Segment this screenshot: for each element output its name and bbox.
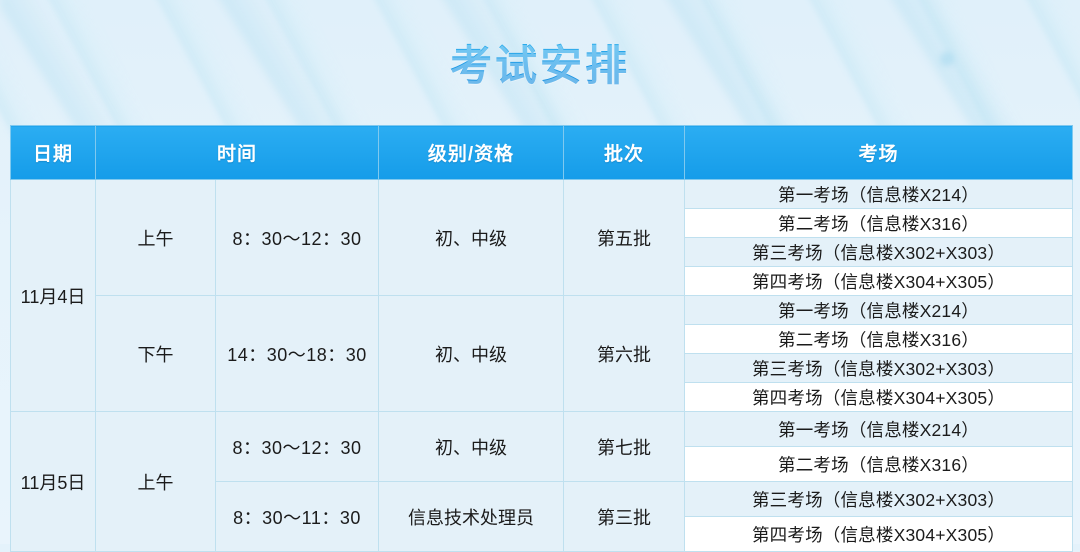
cell-time: 8：30～12：30 (216, 180, 379, 296)
title-banner: 考试安排 (0, 0, 1080, 125)
cell-date: 11月4日 (11, 180, 96, 412)
cell-ampm: 上午 (96, 412, 216, 552)
cell-room: 第四考场（信息楼X304+X305） (685, 383, 1073, 412)
cell-date: 11月5日 (11, 412, 96, 552)
table-row: 11月4日 上午 8：30～12：30 初、中级 第五批 第一考场（信息楼X21… (11, 180, 1073, 209)
cell-time: 8：30～12：30 (216, 412, 379, 482)
column-header-batch: 批次 (564, 126, 685, 180)
cell-time: 8：30～11：30 (216, 482, 379, 552)
cell-room: 第三考场（信息楼X302+X303） (685, 482, 1073, 517)
cell-room: 第三考场（信息楼X302+X303） (685, 354, 1073, 383)
cell-level: 信息技术处理员 (379, 482, 564, 552)
cell-batch: 第七批 (564, 412, 685, 482)
table-row: 11月5日 上午 8：30～12：30 初、中级 第七批 第一考场（信息楼X21… (11, 412, 1073, 447)
cell-level: 初、中级 (379, 180, 564, 296)
column-header-level: 级别/资格 (379, 126, 564, 180)
cell-room: 第四考场（信息楼X304+X305） (685, 267, 1073, 296)
cell-time: 14：30～18：30 (216, 296, 379, 412)
page-title: 考试安排 (450, 32, 630, 93)
cell-room: 第一考场（信息楼X214） (685, 412, 1073, 447)
cell-room: 第二考场（信息楼X316） (685, 447, 1073, 482)
cell-batch: 第三批 (564, 482, 685, 552)
table-row: 下午 14：30～18：30 初、中级 第六批 第一考场（信息楼X214） (11, 296, 1073, 325)
column-header-time: 时间 (96, 126, 379, 180)
cell-room: 第二考场（信息楼X316） (685, 209, 1073, 238)
exam-schedule-table: 日期 时间 级别/资格 批次 考场 11月4日 上午 8：30～12：30 初、… (10, 125, 1073, 552)
cell-ampm: 上午 (96, 180, 216, 296)
cell-level: 初、中级 (379, 296, 564, 412)
schedule-table-container: 日期 时间 级别/资格 批次 考场 11月4日 上午 8：30～12：30 初、… (10, 125, 1070, 552)
table-body: 11月4日 上午 8：30～12：30 初、中级 第五批 第一考场（信息楼X21… (11, 180, 1073, 552)
cell-room: 第四考场（信息楼X304+X305） (685, 517, 1073, 552)
column-header-room: 考场 (685, 126, 1073, 180)
cell-batch: 第五批 (564, 180, 685, 296)
cell-room: 第一考场（信息楼X214） (685, 296, 1073, 325)
column-header-date: 日期 (11, 126, 96, 180)
header-row: 日期 时间 级别/资格 批次 考场 (11, 126, 1073, 180)
cell-batch: 第六批 (564, 296, 685, 412)
table-header: 日期 时间 级别/资格 批次 考场 (11, 126, 1073, 180)
cell-ampm: 下午 (96, 296, 216, 412)
cell-room: 第二考场（信息楼X316） (685, 325, 1073, 354)
cell-room: 第一考场（信息楼X214） (685, 180, 1073, 209)
cell-level: 初、中级 (379, 412, 564, 482)
cell-room: 第三考场（信息楼X302+X303） (685, 238, 1073, 267)
